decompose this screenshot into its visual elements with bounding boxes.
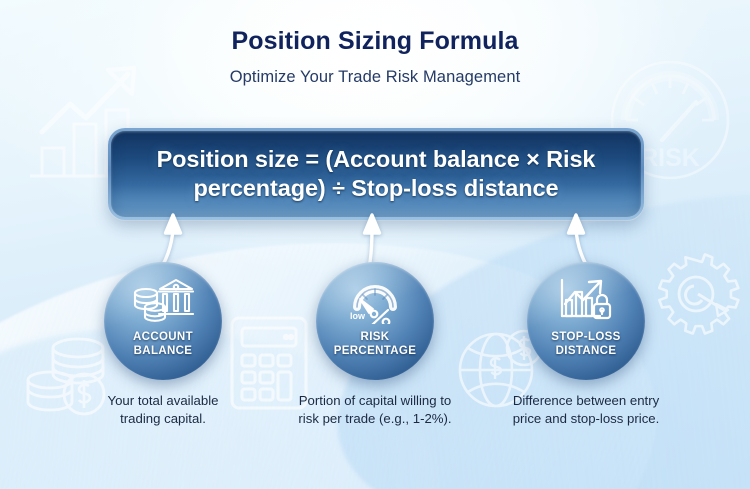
arrow-head-3: [569, 215, 584, 233]
pillar-caption-risk-percentage: Portion of capital willing to risk per t…: [297, 392, 453, 427]
pillar-label-line2: DISTANCE: [551, 345, 620, 359]
page-subtitle: Optimize Your Trade Risk Management: [0, 68, 750, 87]
pillar-caption-stop-loss-distance: Difference between entry price and stop-…: [508, 392, 664, 427]
pillar-label-line1: RISK: [334, 331, 417, 345]
page-title: Position Sizing Formula: [0, 28, 750, 56]
infographic-canvas: RISK: [0, 0, 750, 489]
pillar-caption-account-balance: Your total available trading capital.: [88, 392, 238, 427]
pillar-circle-stop-loss-distance[interactable]: STOP-LOSS DISTANCE: [527, 262, 645, 380]
pillar-label-risk-percentage: RISK PERCENTAGE: [330, 331, 421, 358]
pillar-label-line2: PERCENTAGE: [334, 345, 417, 359]
pillar-stop-loss-distance[interactable]: STOP-LOSS DISTANCE Difference between en…: [527, 262, 645, 427]
gauge-low-label: low: [350, 311, 366, 321]
pillar-label-line1: STOP-LOSS: [551, 331, 620, 345]
chart-lock-icon: [558, 278, 614, 324]
bank-coins-icon: [132, 278, 194, 324]
arrow-head-1: [166, 215, 181, 233]
formula-text: Position size = (Account balance × Risk …: [111, 145, 641, 204]
pillar-label-line1: ACCOUNT: [133, 331, 193, 345]
pillar-label-line2: BALANCE: [133, 345, 193, 359]
gauge-percent-icon: low: [343, 278, 407, 324]
watermark-risk-text: RISK: [640, 144, 700, 172]
pillar-circle-account-balance[interactable]: ACCOUNT BALANCE: [104, 262, 222, 380]
pillar-account-balance[interactable]: ACCOUNT BALANCE Your total available tra…: [104, 262, 222, 427]
header: Position Sizing Formula Optimize Your Tr…: [0, 28, 750, 87]
pillar-risk-percentage[interactable]: low RISK PERCENTAGE Portion of capital w…: [316, 262, 434, 427]
pillar-circle-risk-percentage[interactable]: low RISK PERCENTAGE: [316, 262, 434, 380]
arrow-head-2: [365, 215, 380, 233]
pillar-label-account-balance: ACCOUNT BALANCE: [129, 331, 197, 358]
pillar-label-stop-loss-distance: STOP-LOSS DISTANCE: [547, 331, 624, 358]
